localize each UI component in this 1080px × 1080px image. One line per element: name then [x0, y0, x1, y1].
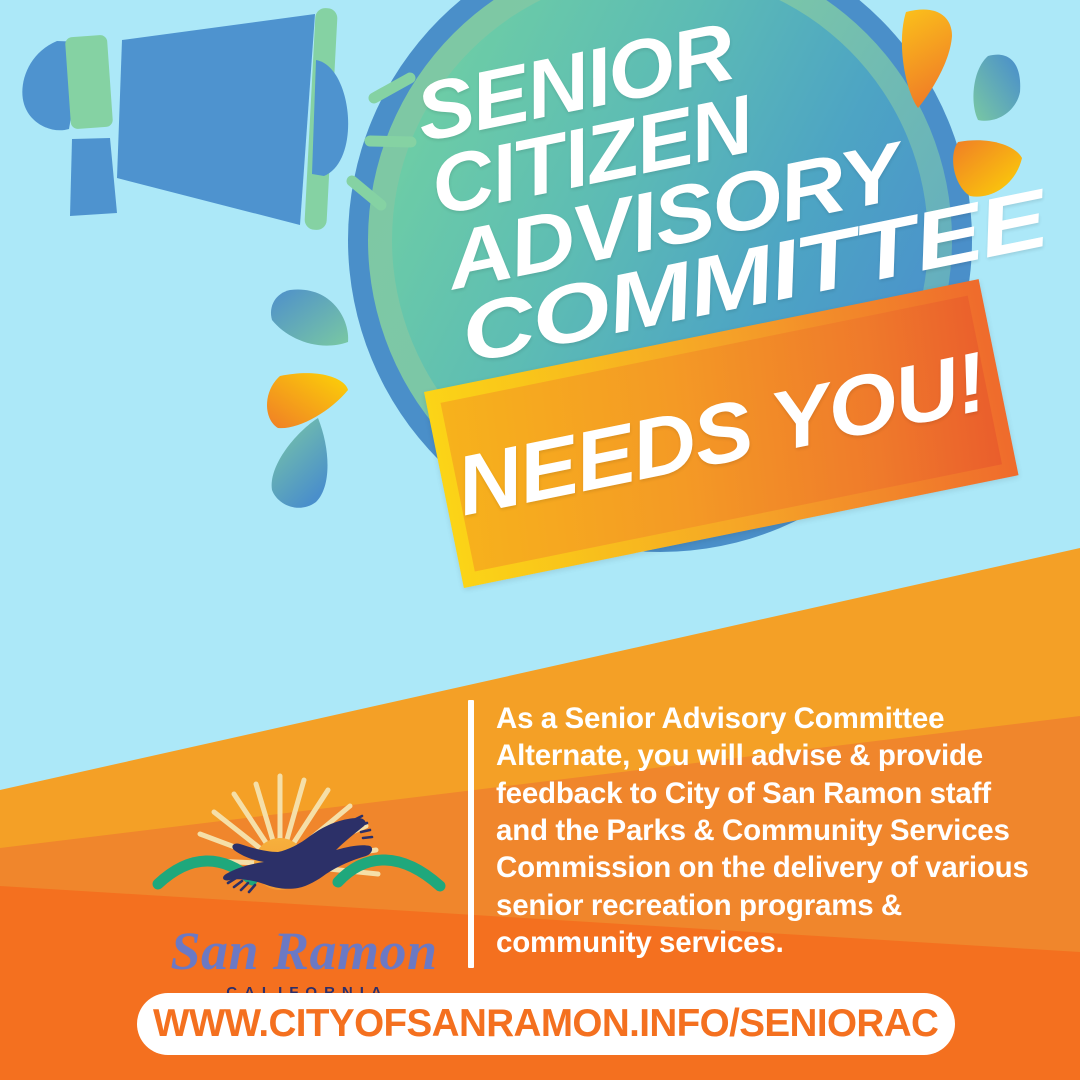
body-divider — [468, 700, 474, 968]
san-ramon-logo: San Ramon CALIFORNIA — [148, 768, 460, 986]
poster-canvas: SENIOR CITIZEN ADVISORY COMMITTEE NEEDS … — [0, 0, 1080, 1080]
body-text-block: As a Senior Advisory Committee Alternate… — [468, 700, 1044, 972]
logo-wordmark: San Ramon — [148, 924, 460, 978]
website-url-label: WWW.CITYOFSANRAMON.INFO/SENIORAC — [153, 1002, 938, 1046]
website-url-pill[interactable]: WWW.CITYOFSANRAMON.INFO/SENIORAC — [137, 993, 955, 1055]
body-paragraph: As a Senior Advisory Committee Alternate… — [496, 700, 1044, 972]
logo-artwork — [148, 768, 460, 928]
